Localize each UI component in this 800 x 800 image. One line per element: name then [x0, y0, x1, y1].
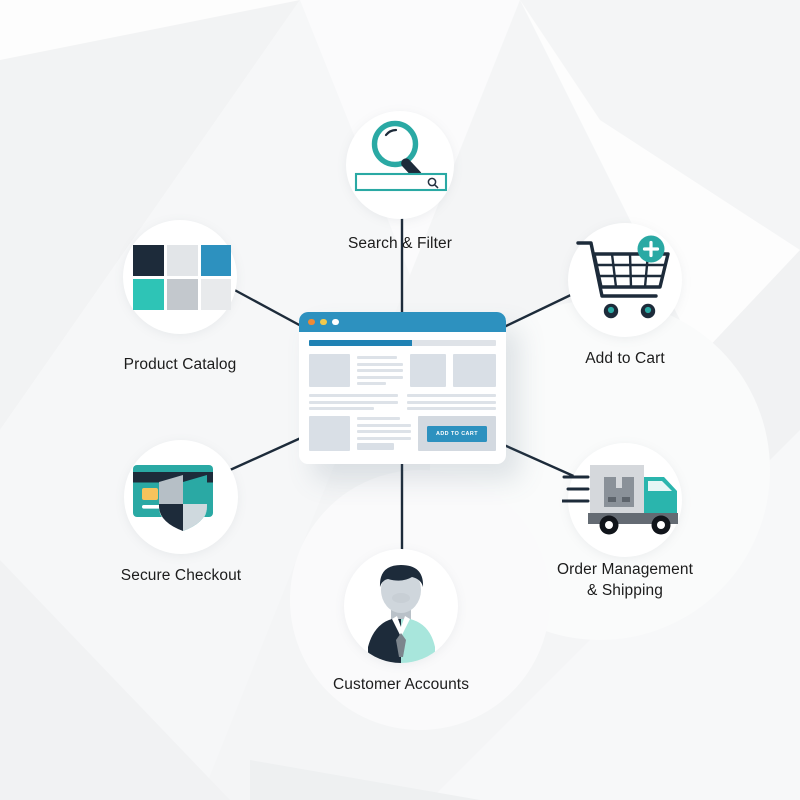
content-row-3: ADD TO CART [309, 416, 496, 451]
text-line [357, 424, 411, 427]
text-line [357, 369, 403, 372]
paragraph-right [407, 394, 496, 410]
text-line [309, 401, 398, 404]
product-thumbnail [453, 354, 496, 387]
text-line [357, 430, 411, 433]
content-row-2 [309, 394, 496, 410]
browser-title-bar [299, 312, 506, 332]
paragraph-left [309, 394, 398, 410]
window-dot-white-icon[interactable] [332, 319, 339, 326]
content-row-1 [309, 354, 496, 387]
grid-squares-icon [131, 243, 231, 313]
site-navbar [309, 340, 496, 346]
text-line [407, 407, 496, 410]
text-line [357, 382, 386, 385]
product-thumbnail [309, 416, 350, 451]
product-text-block [357, 354, 403, 387]
connector-secure-checkout [230, 437, 303, 470]
magnifier-search-bar-icon [342, 112, 458, 208]
connector-add-to-cart [504, 292, 577, 327]
node-label-secure-checkout: Secure Checkout [81, 565, 281, 586]
window-dot-yellow-icon[interactable] [320, 319, 327, 326]
browser-content: ADD TO CART [299, 332, 506, 460]
text-line [357, 376, 403, 379]
window-dot-orange-icon[interactable] [308, 319, 315, 326]
delivery-truck-icon [562, 459, 688, 541]
text-line [309, 407, 374, 410]
node-label-product-catalog: Product Catalog [80, 354, 280, 375]
product-thumbnail [410, 354, 446, 387]
text-line [309, 394, 398, 397]
infographic-canvas: Search & Filter Product Catalog [0, 0, 800, 800]
text-line [357, 417, 400, 420]
connector-product-catalog [229, 287, 303, 327]
node-label-add-to-cart: Add to Cart [525, 348, 725, 369]
add-to-cart-panel: ADD TO CART [418, 416, 496, 451]
credit-card-shield-icon [131, 458, 235, 540]
user-avatar-icon [344, 549, 458, 663]
text-line [357, 443, 394, 450]
product-thumbnail [309, 354, 350, 387]
text-line [407, 401, 496, 404]
text-line [407, 394, 496, 397]
site-navbar-fill [309, 340, 412, 346]
shopping-cart-plus-icon [572, 234, 678, 326]
product-text-block [357, 416, 411, 451]
node-label-order-management-shipping: Order Management & Shipping [525, 559, 725, 601]
node-label-search-filter: Search & Filter [300, 233, 500, 254]
text-line [357, 363, 403, 366]
text-line [357, 437, 411, 440]
ecommerce-storefront-window[interactable]: ADD TO CART [299, 312, 506, 464]
text-line [357, 356, 397, 359]
node-label-customer-accounts: Customer Accounts [301, 674, 501, 695]
add-to-cart-button[interactable]: ADD TO CART [427, 426, 487, 442]
